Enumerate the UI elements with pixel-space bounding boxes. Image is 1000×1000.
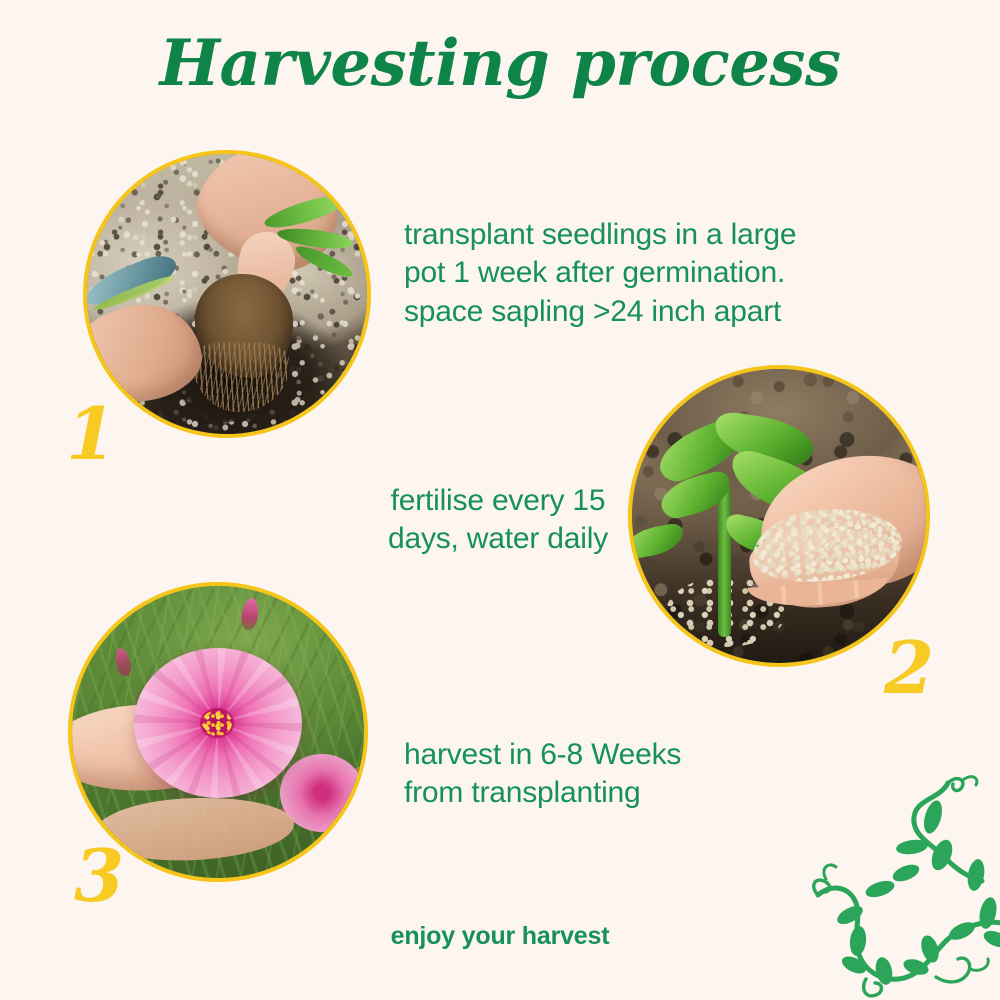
- step-3-caption: harvest in 6-8 Weeks from transplanting: [404, 736, 724, 813]
- step-2-photo-content: [632, 369, 926, 663]
- infographic-poster: Harvesting process 1 transplant seedling…: [0, 0, 1000, 1000]
- vine-leaves-icon: [790, 755, 1000, 1000]
- step-1-caption: transplant seedlings in a large pot 1 we…: [404, 216, 824, 331]
- step-3-number: 3: [74, 840, 124, 912]
- step-1-photo-content: [87, 154, 367, 434]
- page-title: Harvesting process: [0, 26, 1000, 101]
- step-1-photo: [83, 150, 371, 438]
- step-2-caption: fertilise every 15 days, water daily: [378, 482, 618, 559]
- step-2-number: 2: [884, 632, 934, 704]
- seedling-stem: [718, 487, 731, 637]
- flower-stamens: [202, 710, 232, 736]
- step-1-number: 1: [66, 398, 116, 470]
- footer-text: enjoy your harvest: [0, 922, 1000, 951]
- step-2-photo: [628, 365, 930, 667]
